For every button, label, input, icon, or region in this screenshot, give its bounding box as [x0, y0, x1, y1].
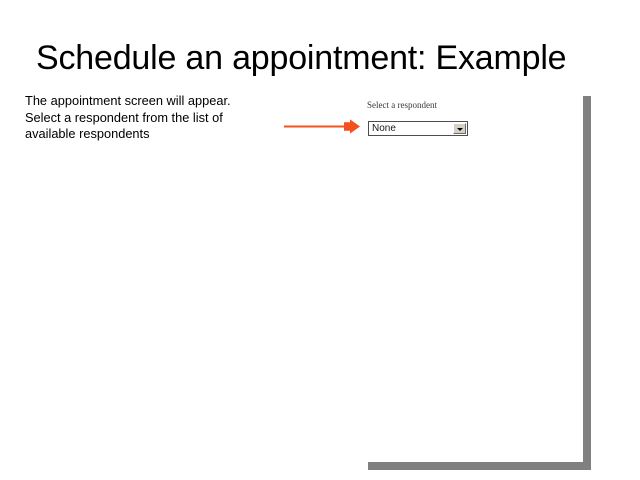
slide-body-text: The appointment screen will appear. Sele… — [25, 93, 250, 143]
respondent-dropdown-value: None — [372, 123, 396, 135]
presentation-slide: Schedule an appointment: Example The app… — [0, 0, 640, 480]
chevron-down-glyph — [457, 128, 463, 131]
page-title: Schedule an appointment: Example — [36, 38, 612, 78]
respondent-dropdown[interactable]: None — [368, 121, 468, 136]
right-arrow-icon — [284, 119, 366, 134]
screenshot-shadow-right-edge — [583, 96, 591, 470]
respondent-field-label: Select a respondent — [367, 100, 437, 111]
chevron-down-icon[interactable] — [453, 123, 466, 134]
embedded-screenshot-panel: Select a respondent None — [362, 90, 583, 462]
screenshot-shadow-bottom-edge — [368, 462, 591, 470]
